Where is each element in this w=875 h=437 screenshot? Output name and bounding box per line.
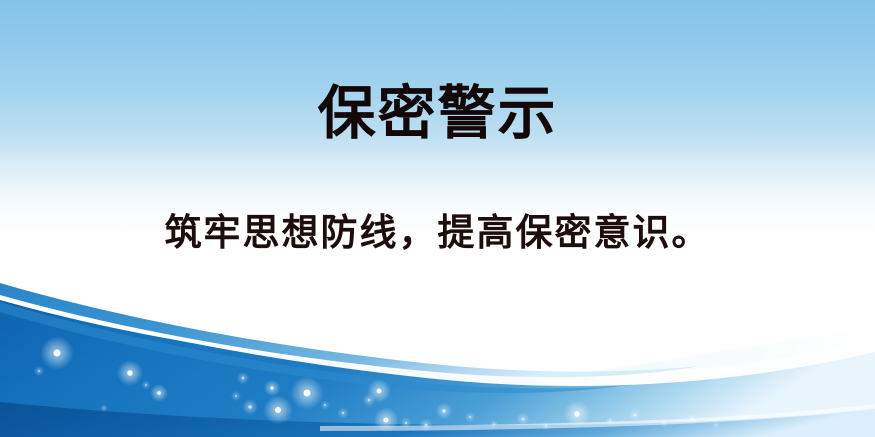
poster-slogan: 筑牢思想防线，提高保密意识。 [0,208,875,258]
sparkle-core [383,417,388,422]
sparkle-core [270,386,274,390]
sparkle-core [303,389,310,396]
sparkle-core [469,416,471,418]
sparkle-core [442,409,446,413]
sparkle-core [545,425,547,427]
sparkle-core [522,418,525,421]
sparkle-core [235,395,237,397]
sparkle-core [715,424,717,426]
sparkle-core [663,422,665,424]
sparkle-core [53,349,60,356]
sparkle-core [145,384,147,386]
sparkle-core [425,424,428,427]
sparkle-core [157,391,161,395]
sparkle-core [376,388,381,393]
sparkle-core [493,423,495,425]
sparkle-core [242,377,245,380]
sparkle-core [127,370,133,376]
sparkle-core [574,411,580,417]
sparkle-core [405,422,407,424]
sparkle-core [609,420,611,422]
secrecy-warning-poster: 保密警示 筑牢思想防线，提高保密意识。 [0,0,875,437]
sparkle-core [634,414,637,417]
sparkle-core [342,412,344,414]
sparkle-core [275,407,281,413]
sparkle-core [248,405,251,408]
sparkle-core [324,404,326,406]
sparkle-core [368,399,371,402]
sparkle-core [103,407,105,409]
sparkle-core [691,418,693,420]
sparkle-core [38,370,40,372]
page-title: 保密警示 [0,79,875,147]
